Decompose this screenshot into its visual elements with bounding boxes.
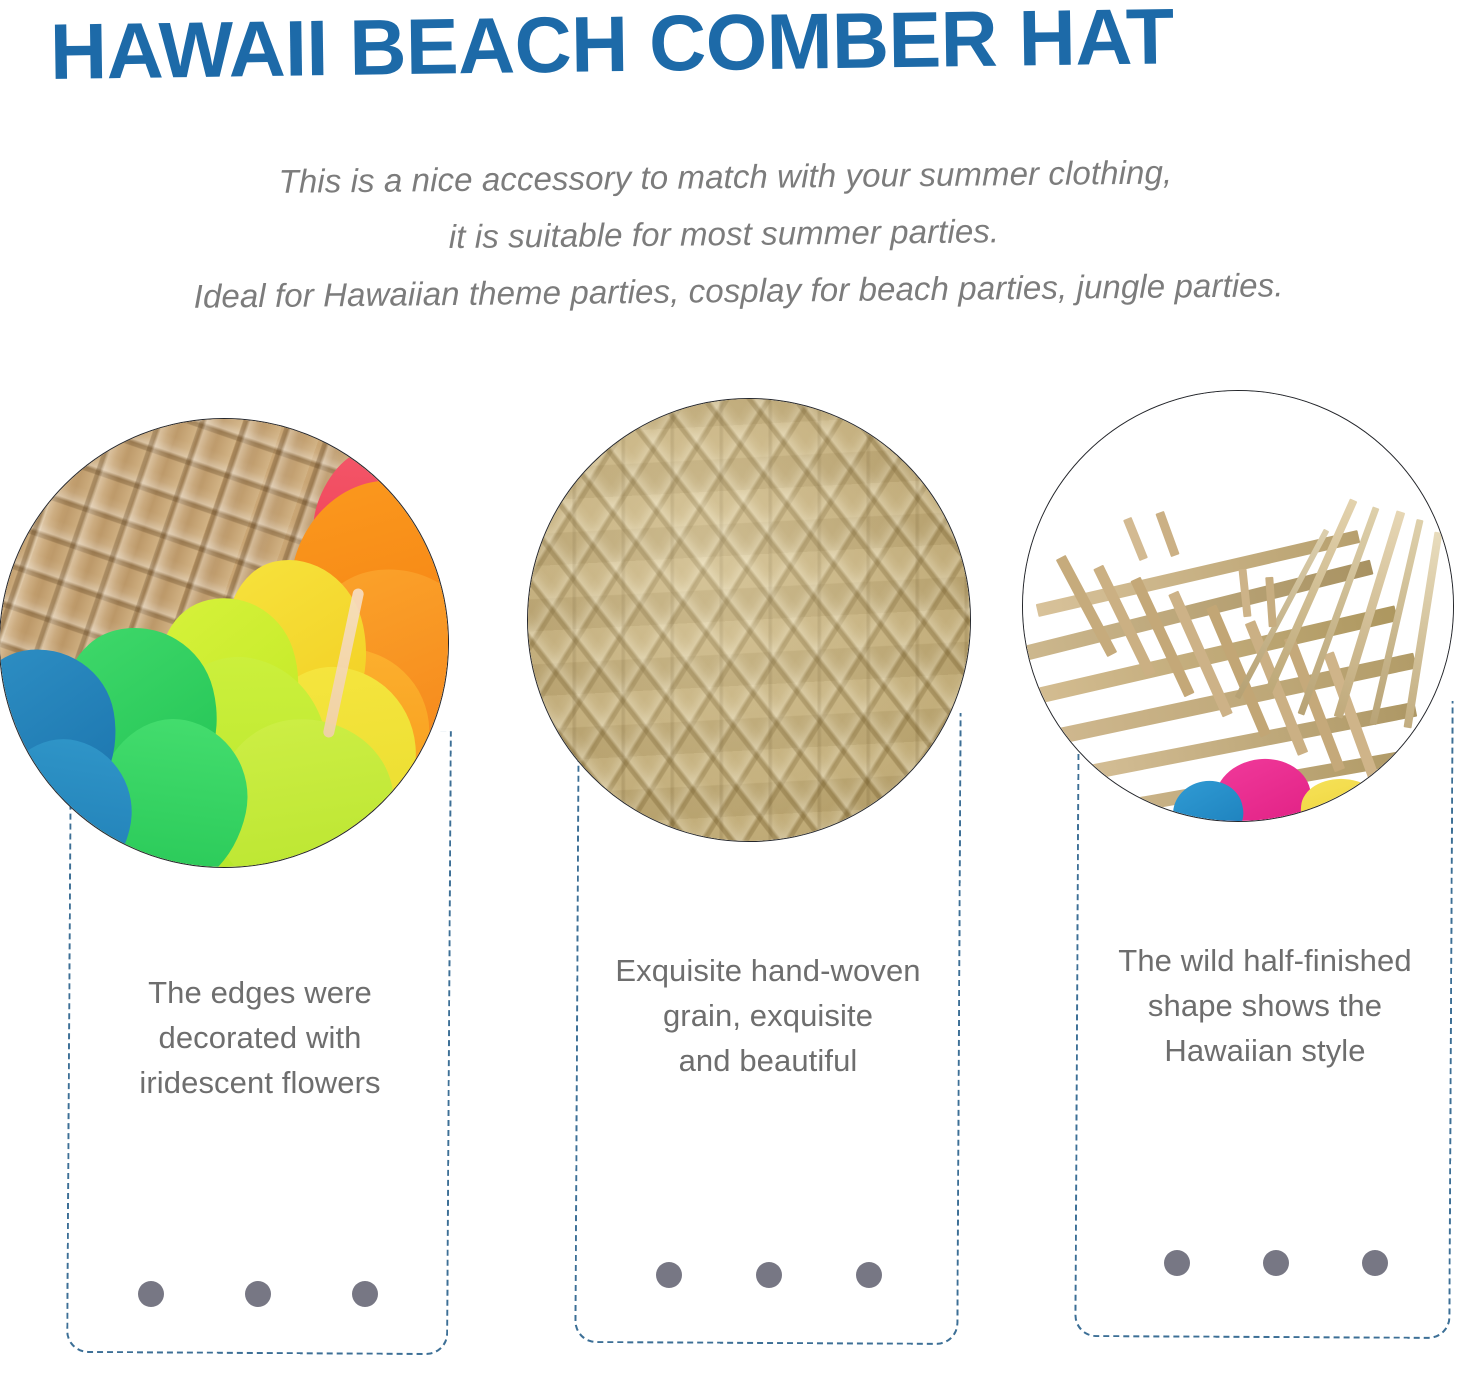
caption-line-3: and beautiful [572,1038,964,1083]
caption-line-3: iridescent flowers [70,1060,450,1105]
dot-indicator [756,1262,782,1288]
feature-caption-flowers: The edges were decorated with iridescent… [70,970,450,1105]
feature-image-shape [1022,390,1454,822]
dot-indicator [1263,1250,1289,1276]
straw-rib [1284,636,1345,773]
feature-panel-weave [574,711,961,1345]
straw-strand [1023,560,1373,662]
feature-dots-weave [656,1262,882,1288]
caption-line-1: Exquisite hand-woven [572,948,964,993]
petal-blue [1168,775,1248,821]
straw-strand [1036,530,1360,617]
petal-green-1 [43,611,236,818]
petal-blue-2 [0,724,147,867]
petal-chartreuse-2 [132,646,340,867]
header: HAWAII BEACH COMBER HAT This is a nice a… [0,0,1478,360]
straw-fringe [1265,498,1358,693]
straw-fringe [1235,529,1329,700]
straw-weave-texture [0,419,448,867]
feature-image-weave-inner [528,399,970,841]
feature-image-flowers [0,418,449,868]
petal-magenta [1211,754,1315,821]
caption-line-1: The wild half-finished [1072,938,1458,983]
dot-indicator [352,1281,378,1307]
feature-dots-shape [1164,1250,1388,1276]
weave-shading-overlay [528,399,970,841]
caption-line-3: Hawaiian style [1072,1028,1458,1073]
feature-image-flowers-inner [0,419,448,867]
straw-fringe [1334,510,1405,718]
dot-indicator [1164,1250,1190,1276]
straw-tooth [1239,569,1252,618]
straw-rib [1206,604,1271,737]
petal-orange-3 [254,636,443,841]
straw-fringe [1404,532,1443,729]
dot-indicator [656,1262,682,1288]
feature-image-shape-inner [1023,391,1453,821]
petal-yellow-2 [241,659,425,865]
dot-indicator [856,1262,882,1288]
petal-green-2 [80,705,262,867]
feature-caption-shape: The wild half-finished shape shows the H… [1072,938,1458,1073]
straw-rib [1323,651,1381,786]
dot-indicator [1362,1250,1388,1276]
page-title: HAWAII BEACH COMBER HAT [49,0,1440,91]
caption-line-2: grain, exquisite [572,993,964,1038]
straw-rib [1168,591,1233,718]
herringbone-seam-lines [528,399,970,841]
petal-blue-1 [0,637,129,826]
subtitle-block: This is a nice accessory to match with y… [0,140,1478,326]
petal-pink [298,441,403,575]
feature-dots-flowers [138,1281,378,1307]
dot-indicator [138,1281,164,1307]
straw-rib [1056,555,1117,657]
caption-line-2: shape shows the [1072,983,1458,1028]
dot-indicator [245,1281,271,1307]
straw-strand [1096,749,1412,818]
petal-orange-1 [271,461,448,701]
straw-fringe [1369,519,1423,725]
feature-panel-shape [1074,699,1453,1339]
petal-chartreuse-3 [208,713,400,867]
petal-yellow-1 [209,546,382,746]
caption-line-1: The edges were [70,970,450,1015]
straw-fringe [1298,506,1380,715]
straw-stem [322,588,364,739]
feature-caption-weave: Exquisite hand-woven grain, exquisite an… [572,948,964,1083]
straw-strand [1051,653,1416,746]
caption-line-2: decorated with [70,1015,450,1060]
straw-rib [1093,565,1155,678]
petal-yellow [1299,776,1387,821]
straw-tooth [1155,511,1179,557]
loose-straw-strands [1023,391,1453,821]
straw-strand [1071,702,1417,784]
petal-orange-2 [287,557,448,781]
herringbone-weave-texture [528,399,970,841]
feature-image-weave [527,398,971,842]
straw-tooth [1265,577,1276,627]
straw-rib [1245,620,1308,756]
petal-chartreuse-1 [139,580,319,773]
feature-panel-flowers [66,729,452,1355]
straw-strand [1032,605,1398,704]
straw-tooth [1123,517,1148,561]
straw-rib [1130,577,1194,698]
